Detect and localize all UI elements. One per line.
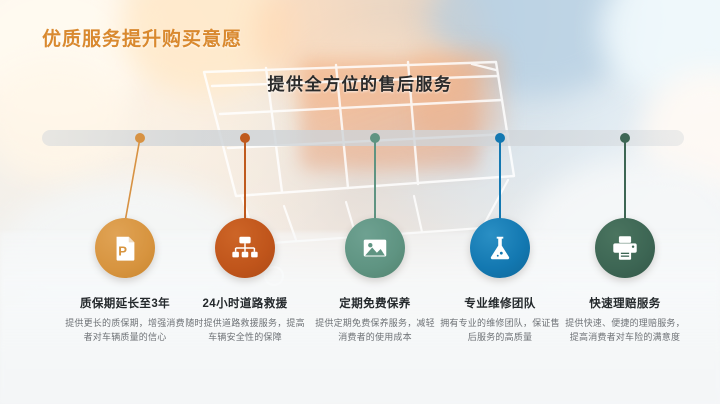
connector-line [624, 137, 626, 221]
timeline-dot [370, 133, 380, 143]
icon-bubble-printer[interactable] [595, 218, 655, 278]
file-p-icon: P [110, 233, 140, 263]
item-body: 提供快速、便捷的理赔服务，提高消费者对车险的满意度 [550, 316, 700, 344]
svg-text:P: P [118, 244, 127, 259]
timeline-dot [240, 133, 250, 143]
slide-canvas: 优质服务提升购买意愿 提供全方位的售后服务 P 质保期延长至3年 提供更长的质保… [0, 0, 720, 404]
flask-icon [485, 233, 515, 263]
timeline-dot [620, 133, 630, 143]
item-heading: 24小时道路救援 [170, 297, 320, 312]
sitemap-icon [230, 233, 260, 263]
connector-line [374, 137, 376, 221]
list-item[interactable]: 24小时道路救援 随时提供道路救援服务，提高车辆安全性的保障 [170, 0, 320, 404]
connector-line [244, 137, 246, 221]
image-icon [360, 233, 390, 263]
item-heading: 快速理赔服务 [550, 297, 700, 312]
item-text: 快速理赔服务 提供快速、便捷的理赔服务，提高消费者对车险的满意度 [550, 297, 700, 344]
icon-bubble-flask[interactable] [470, 218, 530, 278]
icon-bubble-file-p[interactable]: P [95, 218, 155, 278]
timeline-dot [135, 133, 145, 143]
list-item[interactable]: 快速理赔服务 提供快速、便捷的理赔服务，提高消费者对车险的满意度 [550, 0, 700, 404]
item-text: 24小时道路救援 随时提供道路救援服务，提高车辆安全性的保障 [170, 297, 320, 344]
icon-bubble-image[interactable] [345, 218, 405, 278]
printer-icon [610, 233, 640, 263]
timeline-dot [495, 133, 505, 143]
icon-bubble-sitemap[interactable] [215, 218, 275, 278]
connector-line [499, 137, 501, 221]
item-body: 随时提供道路救援服务，提高车辆安全性的保障 [170, 316, 320, 344]
